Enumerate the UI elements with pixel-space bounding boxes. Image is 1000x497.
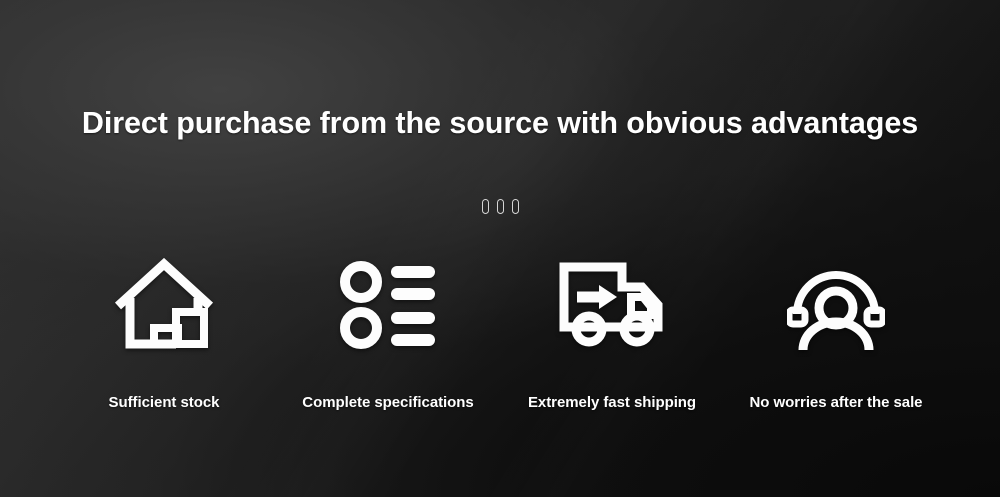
- warehouse-stock-icon: [114, 256, 214, 352]
- delivery-truck-icon: [559, 256, 665, 352]
- feature-label: Complete specifications: [302, 394, 473, 412]
- divider-pill-1: [482, 199, 489, 214]
- promo-banner: Direct purchase from the source with obv…: [0, 0, 1000, 497]
- divider-pill-2: [497, 199, 504, 214]
- three-pill-divider: [0, 199, 1000, 214]
- feature-item-sufficient-stock: Sufficient stock: [52, 256, 276, 412]
- feature-item-after-sale-support: No worries after the sale: [724, 256, 948, 412]
- specifications-list-icon: [336, 256, 440, 352]
- feature-item-fast-shipping: Extremely fast shipping: [500, 256, 724, 412]
- page-title: Direct purchase from the source with obv…: [8, 104, 993, 142]
- divider-pill-3: [512, 199, 519, 214]
- feature-label: No worries after the sale: [750, 394, 923, 412]
- background-sheen-overlay: [0, 0, 1000, 497]
- feature-item-complete-specifications: Complete specifications: [276, 256, 500, 412]
- feature-list: Sufficient stock Complete specifications: [52, 256, 948, 412]
- feature-label: Extremely fast shipping: [528, 394, 696, 412]
- customer-support-headset-icon: [787, 256, 885, 352]
- feature-label: Sufficient stock: [109, 394, 220, 412]
